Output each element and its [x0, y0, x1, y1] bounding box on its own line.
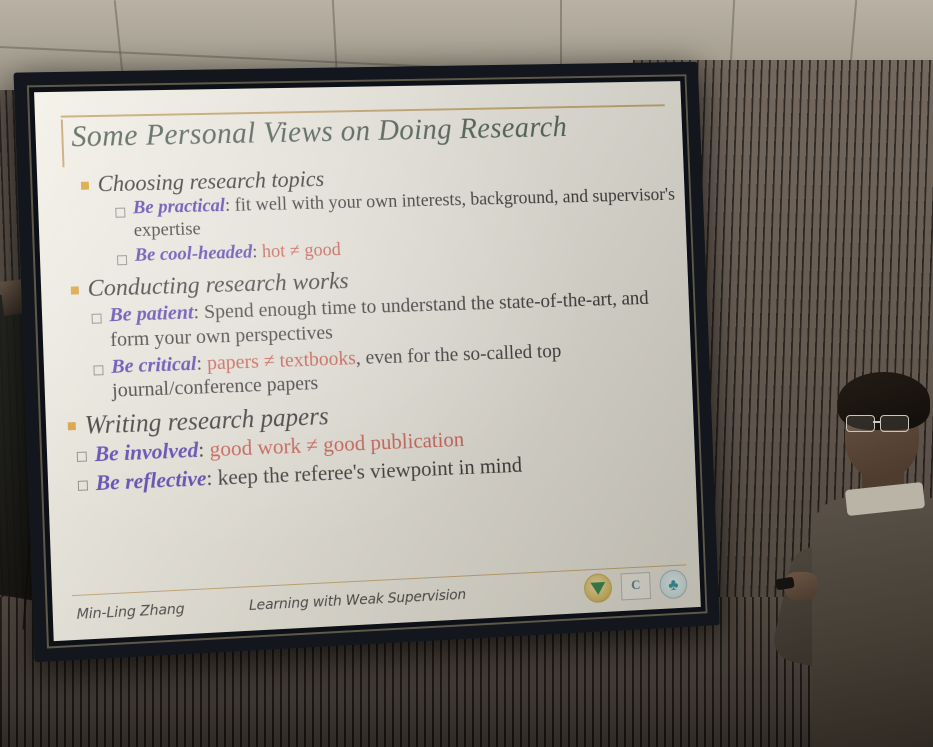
tree-logo: ♣	[659, 569, 688, 599]
seu-seal-logo	[584, 573, 613, 603]
square-bullet-icon	[71, 286, 79, 294]
tree-icon: ♣	[668, 576, 679, 593]
square-bullet-icon	[68, 422, 76, 430]
hollow-square-bullet-icon	[92, 314, 102, 324]
hollow-square-bullet-icon	[117, 255, 127, 265]
bullet-level1-label: Choosing research topics	[97, 165, 324, 197]
lead-term: Be critical	[111, 353, 197, 378]
hollow-square-bullet-icon	[93, 365, 103, 375]
accent-text: papers ≠ textbooks	[207, 347, 357, 374]
bullet-group-conducting: Conducting research works Be patient: Sp…	[62, 257, 682, 405]
footer-author: Min-Ling Zhang	[76, 598, 249, 623]
lamda-logo-glyph: C	[631, 578, 641, 594]
separator: :	[206, 465, 218, 490]
projection-screen: Some Personal Views on Doing Research Ch…	[13, 62, 719, 663]
glasses-icon	[846, 415, 924, 431]
hollow-square-bullet-icon	[78, 480, 88, 490]
separator: :	[196, 352, 207, 374]
hollow-square-bullet-icon	[77, 452, 87, 462]
lead-term: Be patient	[109, 302, 194, 326]
slide-body: Choosing research topics Be practical: f…	[59, 158, 687, 504]
hollow-square-bullet-icon	[115, 208, 125, 218]
bullet-level2-text: Be cool-headed: hot ≠ good	[134, 239, 341, 267]
presentation-slide: Some Personal Views on Doing Research Ch…	[34, 81, 701, 641]
photo-scene: Some Personal Views on Doing Research Ch…	[0, 0, 933, 747]
separator: :	[193, 302, 204, 324]
presenter-torso	[812, 498, 933, 747]
lead-term: Be reflective	[95, 465, 207, 495]
sub-bullets: Be practical: fit well with your own int…	[81, 184, 677, 268]
lead-term: Be involved	[94, 438, 199, 467]
footer-talk-title: Learning with Weak Supervision	[249, 581, 585, 614]
lamda-lab-logo: C	[621, 572, 651, 600]
sub-bullets: Be patient: Spend enough time to underst…	[71, 286, 682, 405]
lead-term: Be cool-headed	[134, 242, 252, 266]
accent-text: hot ≠ good	[261, 239, 341, 262]
title-accent-bar	[61, 120, 65, 168]
footer-logos: C ♣	[584, 569, 688, 603]
square-bullet-icon	[81, 182, 89, 190]
bullet-group-choosing: Choosing research topics Be practical: f…	[59, 158, 678, 270]
bullet-group-writing: Writing research papers Be involved: goo…	[67, 388, 686, 498]
lead-term: Be practical	[133, 195, 226, 218]
seal-triangle-icon	[590, 581, 605, 594]
